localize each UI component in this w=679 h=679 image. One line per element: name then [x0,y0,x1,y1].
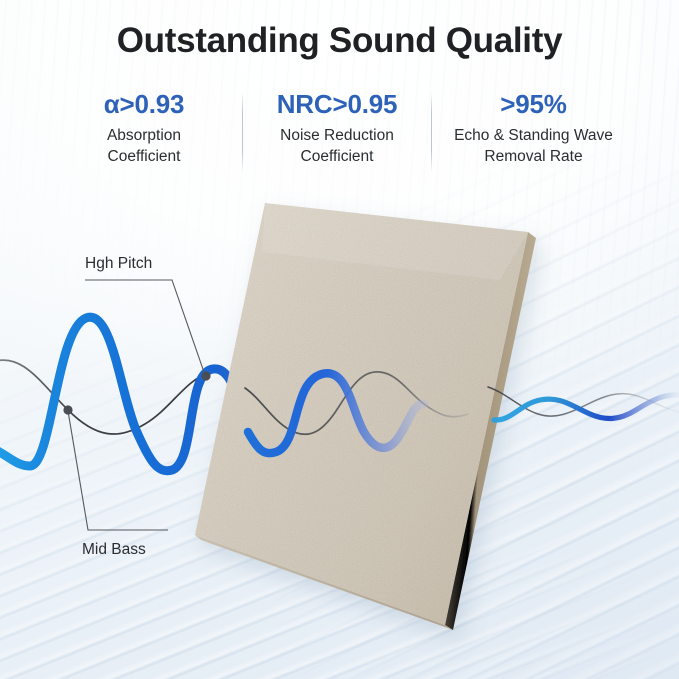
infographic-canvas: Outstanding Sound Quality α>0.93 Absorpt… [0,0,679,679]
annotation-dot-high-pitch [201,371,210,380]
acoustic-panel-diagram: Hgh Pitch Mid Bass [0,0,679,679]
annotation-label-high-pitch: Hgh Pitch [85,255,152,272]
annotation-high-pitch: Hgh Pitch [85,255,211,381]
annotation-leader-mid-bass [68,411,168,530]
annotation-dot-mid-bass [63,405,72,414]
wave-group-right [488,387,679,420]
annotation-label-mid-bass: Mid Bass [82,541,146,558]
high-pitch-wave-right [494,395,679,420]
acoustic-panel [195,203,536,630]
annotation-mid-bass: Mid Bass [63,405,168,558]
